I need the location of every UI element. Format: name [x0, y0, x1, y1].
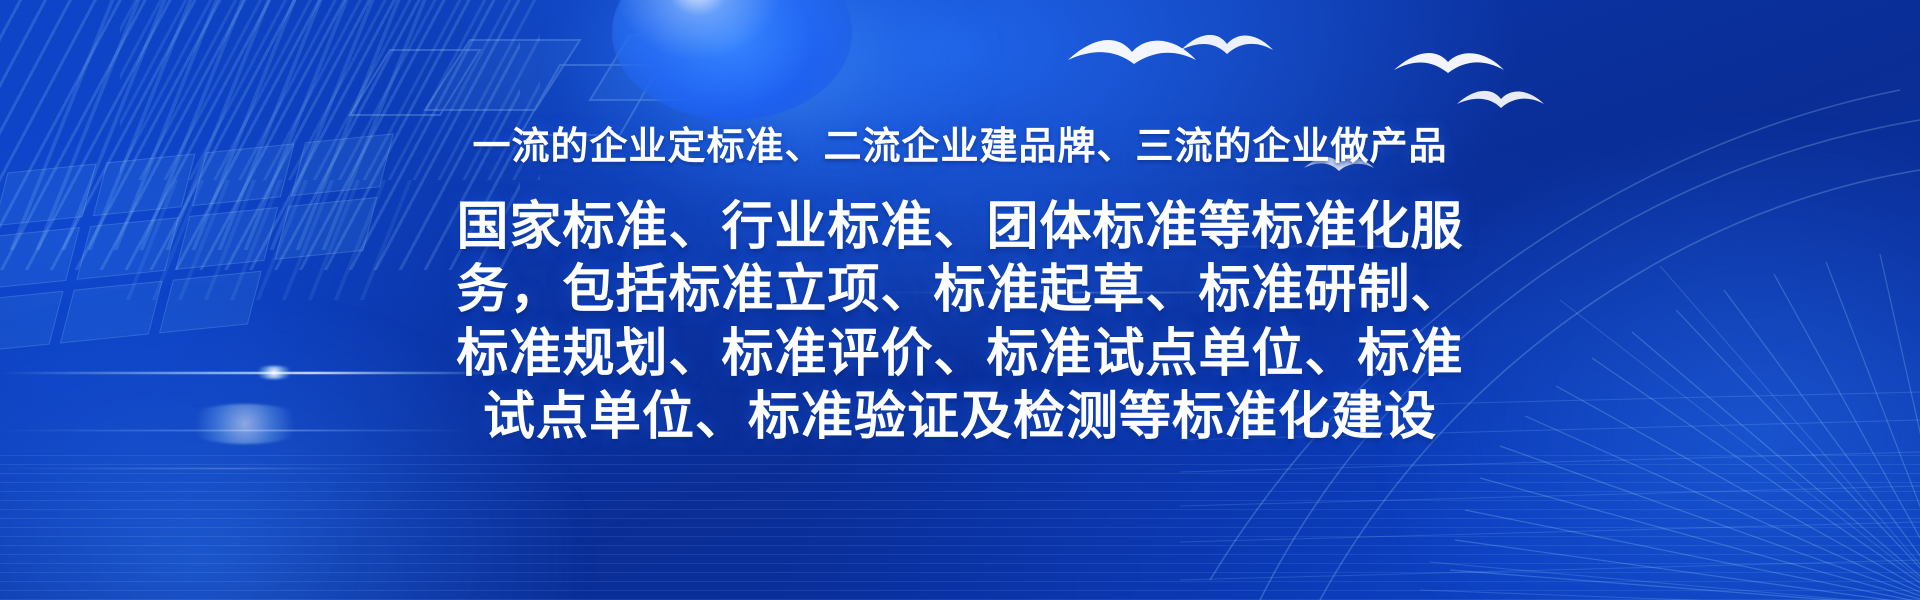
promo-banner: 一流的企业定标准、二流企业建品牌、三流的企业做产品 国家标准、行业标准、团体标准…	[0, 0, 1920, 600]
body-line-1: 国家标准、行业标准、团体标准等标准化服	[330, 196, 1590, 259]
body-line-2: 务，包括标准立项、标准起草、标准研制、	[330, 259, 1590, 322]
body-line-3: 标准规划、标准评价、标准试点单位、标准	[330, 323, 1590, 386]
banner-text-container: 一流的企业定标准、二流企业建品牌、三流的企业做产品 国家标准、行业标准、团体标准…	[0, 0, 1920, 600]
banner-body-text: 国家标准、行业标准、团体标准等标准化服 务，包括标准立项、标准起草、标准研制、 …	[330, 196, 1590, 450]
body-line-4: 试点单位、标准验证及检测等标准化建设	[330, 386, 1590, 449]
banner-headline: 一流的企业定标准、二流企业建品牌、三流的企业做产品	[472, 115, 1447, 170]
